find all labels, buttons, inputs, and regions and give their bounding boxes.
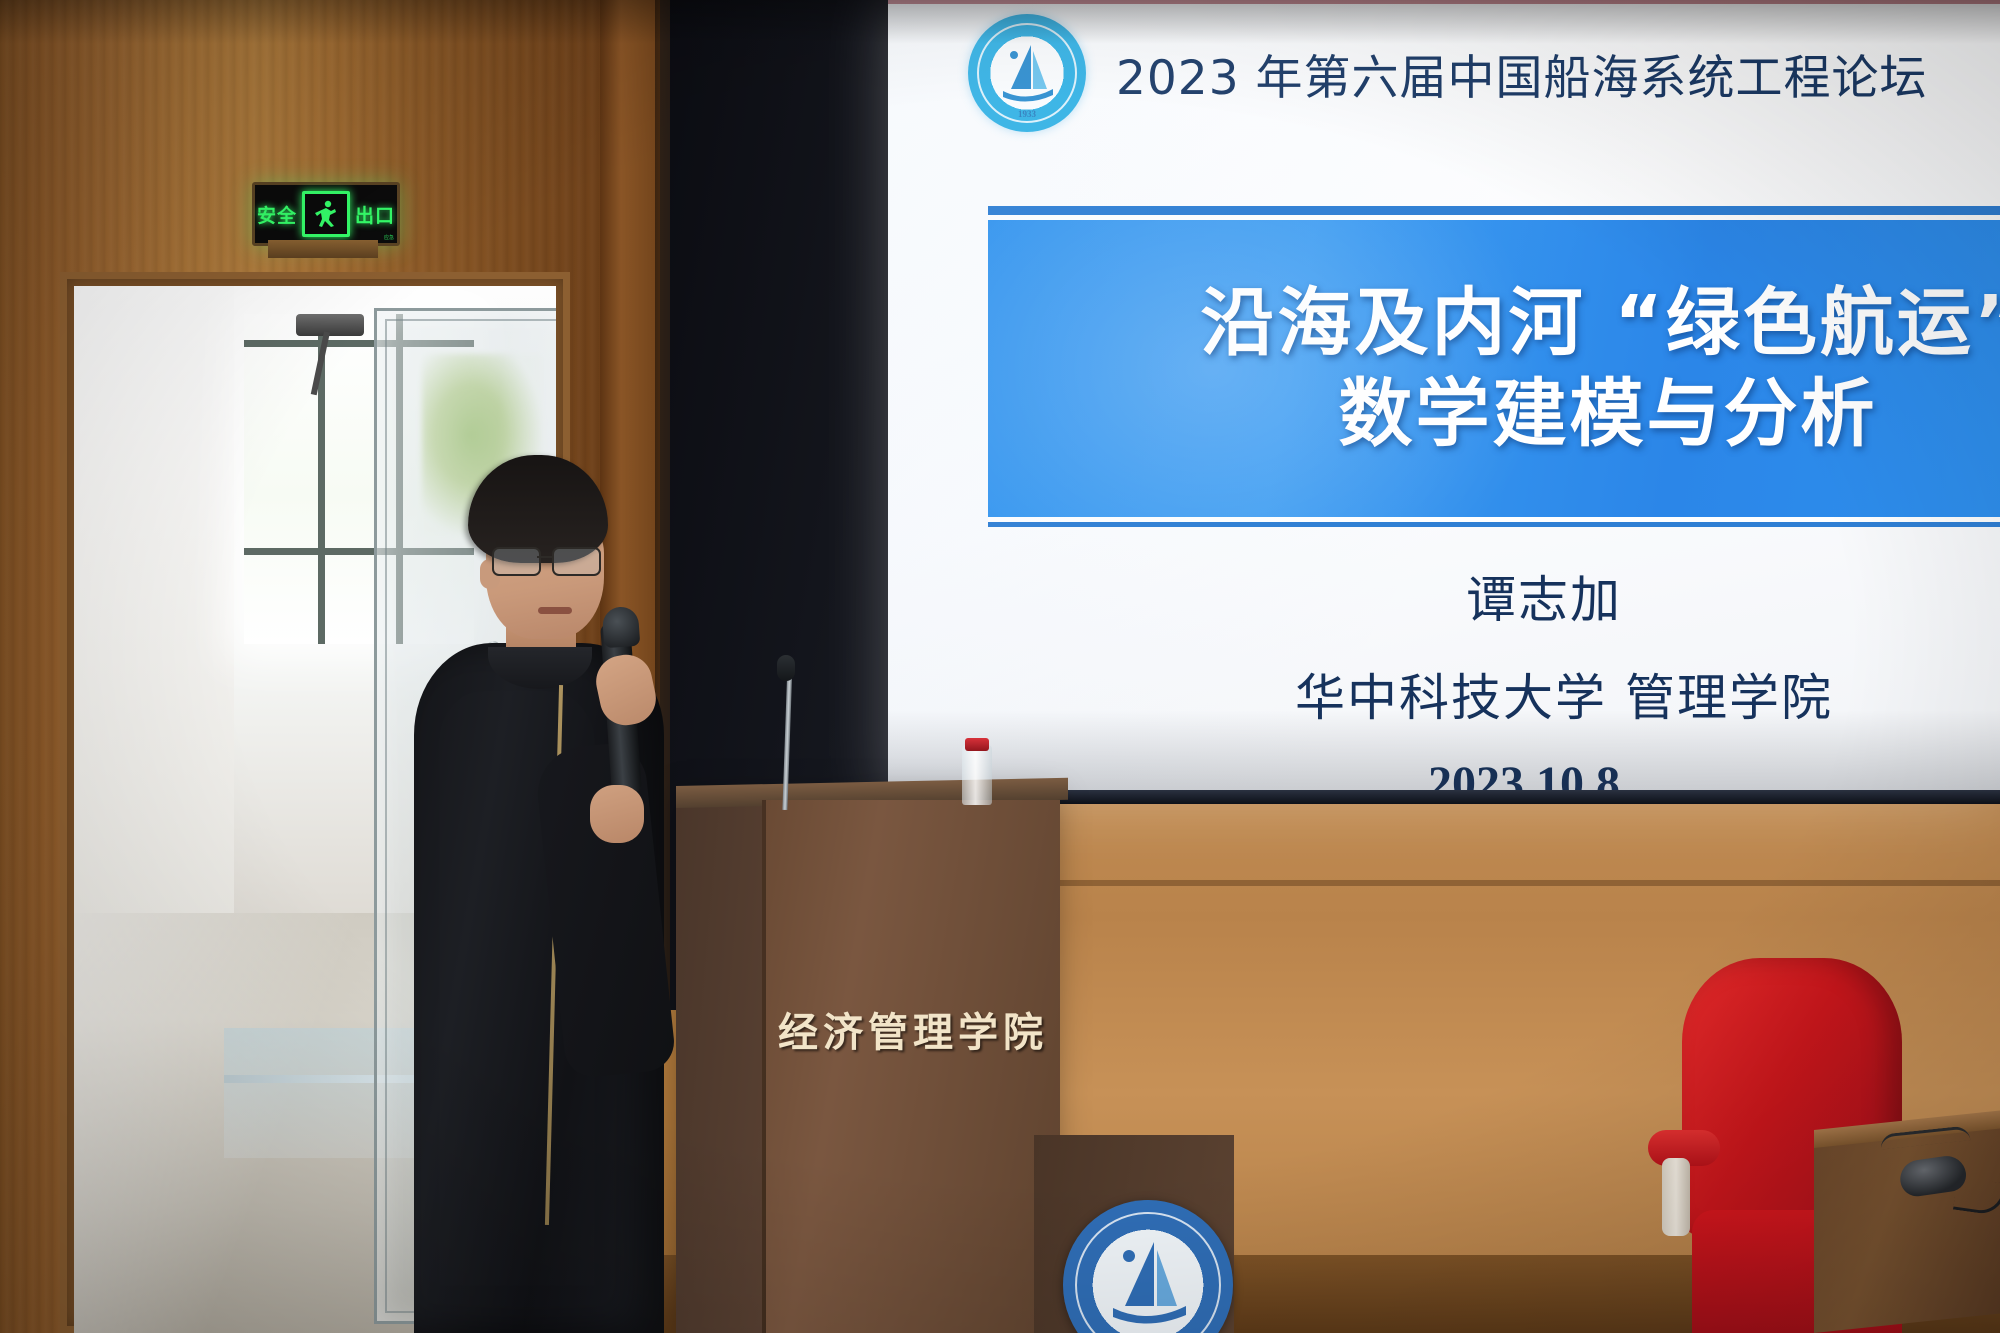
exit-sign-left-label: 安全 [257, 201, 297, 228]
chair-armrest-post [1662, 1158, 1690, 1236]
screen-glare [888, 0, 2000, 800]
exit-sign-right-label: 出口 [355, 201, 395, 228]
door-closer [296, 314, 364, 336]
exit-sign-mount [268, 240, 378, 258]
exit-sign-small-label: 应急 [384, 236, 394, 241]
conference-room-photo: 安全 出口 应急 [0, 0, 2000, 1333]
running-man-exit-icon [302, 191, 350, 237]
speaker-person [400, 455, 690, 1333]
water-bottle-cap [965, 738, 989, 751]
emergency-exit-sign: 安全 出口 应急 [252, 182, 400, 246]
projection-screen: 1933 2023 年第六届中国船海系统工程论坛 沿海及内河 “绿色航运” 数学… [888, 0, 2000, 800]
lectern-label: 经济管理学院 [778, 1000, 1040, 1058]
speaker-eyebrows [496, 541, 592, 545]
water-bottle [962, 745, 992, 805]
wooden-desk [1814, 1116, 2000, 1333]
lectern-front-face [762, 800, 1060, 1333]
lectern-microphone-icon [777, 655, 795, 681]
eyeglasses-icon [492, 547, 604, 573]
speaker-lower-hand [590, 785, 644, 843]
microphone-head-icon [602, 606, 641, 648]
